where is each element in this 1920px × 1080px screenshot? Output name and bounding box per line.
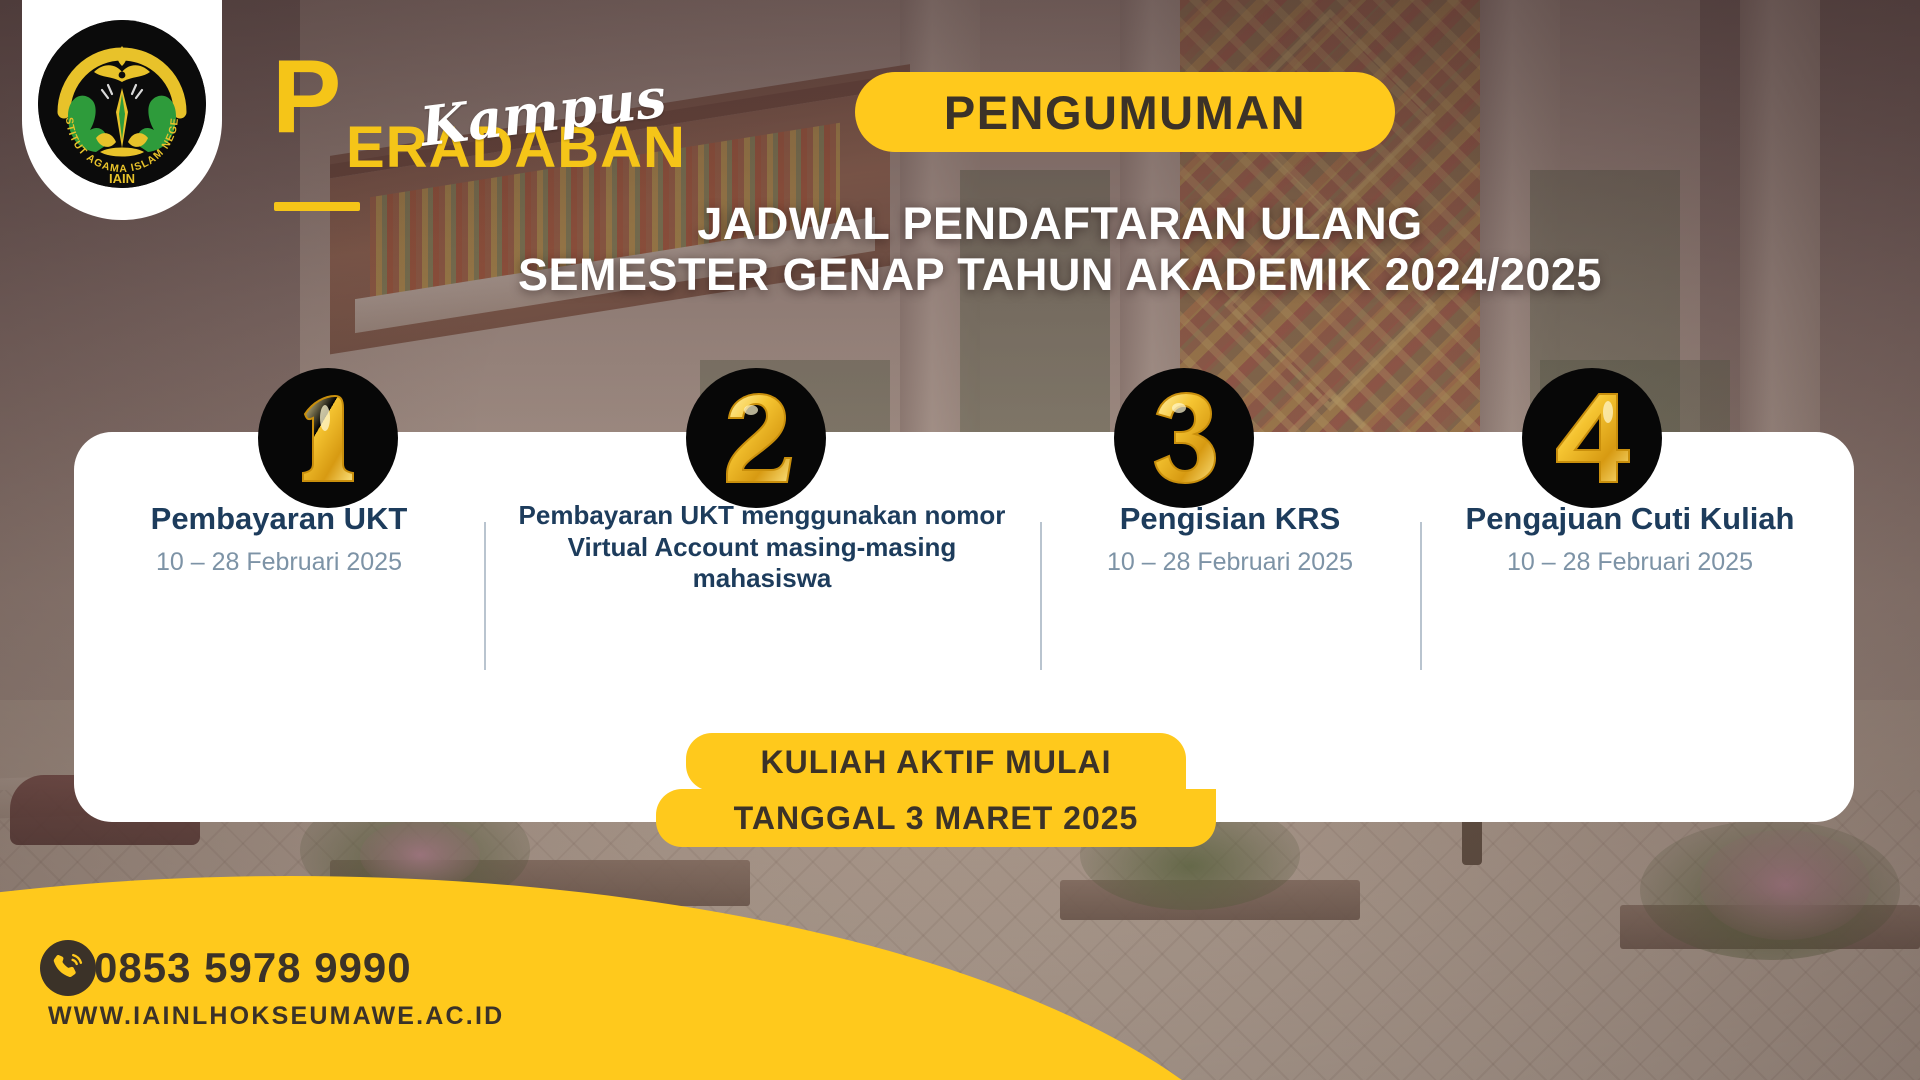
announcement-poster: INSTITUT AGAMA ISLAM NEGERI IAIN P ERADA…: [0, 0, 1920, 1080]
step-title-3: Pengisian KRS: [1052, 500, 1408, 538]
step-item-4: Pengajuan Cuti Kuliah 10 – 28 Februari 2…: [1420, 500, 1840, 690]
footer-phone-number[interactable]: 0853 5978 9990: [94, 944, 412, 992]
callout-line2: TANGGAL 3 MARET 2025: [734, 800, 1139, 837]
step-title-2: Pembayaran UKT menggunakan nomor Virtual…: [496, 500, 1028, 595]
step-item-2: Pembayaran UKT menggunakan nomor Virtual…: [484, 500, 1040, 690]
step-title-1: Pembayaran UKT: [86, 500, 472, 538]
step-number-badge-1: [258, 368, 398, 508]
step-date-4: 10 – 28 Februari 2025: [1432, 548, 1828, 577]
callout-row-2: TANGGAL 3 MARET 2025: [656, 789, 1216, 847]
step-title-4: Pengajuan Cuti Kuliah: [1432, 500, 1828, 538]
step-number-badge-3: [1114, 368, 1254, 508]
svg-text:IAIN: IAIN: [109, 171, 135, 186]
footer-contact: 0853 5978 9990 WWW.IAINLHOKSEUMAWE.AC.ID: [40, 940, 504, 1031]
iain-logo-mark: INSTITUT AGAMA ISLAM NEGERI IAIN: [38, 20, 206, 188]
step-number-badge-4: [1522, 368, 1662, 508]
step-date-1: 10 – 28 Februari 2025: [86, 548, 472, 577]
phone-glyph: [50, 950, 86, 986]
iain-logo: INSTITUT AGAMA ISLAM NEGERI IAIN: [38, 20, 206, 188]
number-2-icon: [711, 388, 801, 488]
announcement-badge: PENGUMUMAN: [855, 72, 1395, 152]
page-title-line1: JADWAL PENDAFTARAN ULANG: [697, 198, 1422, 249]
step-date-3: 10 – 28 Februari 2025: [1052, 548, 1408, 577]
page-title-line2: SEMESTER GENAP TAHUN AKADEMIK 2024/2025: [330, 249, 1790, 300]
phone-icon: [40, 940, 96, 996]
number-1-icon: [283, 388, 373, 488]
number-3-icon: [1139, 388, 1229, 488]
step-item-1: Pembayaran UKT 10 – 28 Februari 2025: [74, 500, 484, 690]
step-number-badge-2: [686, 368, 826, 508]
number-4-icon: [1547, 388, 1637, 488]
callout-row-1: KULIAH AKTIF MULAI: [686, 733, 1186, 791]
step-item-3: Pengisian KRS 10 – 28 Februari 2025: [1040, 500, 1420, 690]
footer-phone-row: 0853 5978 9990: [40, 940, 504, 996]
page-title: JADWAL PENDAFTARAN ULANG SEMESTER GENAP …: [330, 198, 1790, 301]
footer-website[interactable]: WWW.IAINLHOKSEUMAWE.AC.ID: [48, 1002, 504, 1031]
kuliah-aktif-callout: KULIAH AKTIF MULAI TANGGAL 3 MARET 2025: [686, 733, 1246, 847]
steps-row: Pembayaran UKT 10 – 28 Februari 2025 Pem…: [74, 500, 1854, 690]
callout-line1: KULIAH AKTIF MULAI: [761, 744, 1112, 781]
announcement-badge-label: PENGUMUMAN: [944, 85, 1306, 140]
brand-initial: P: [272, 52, 339, 144]
